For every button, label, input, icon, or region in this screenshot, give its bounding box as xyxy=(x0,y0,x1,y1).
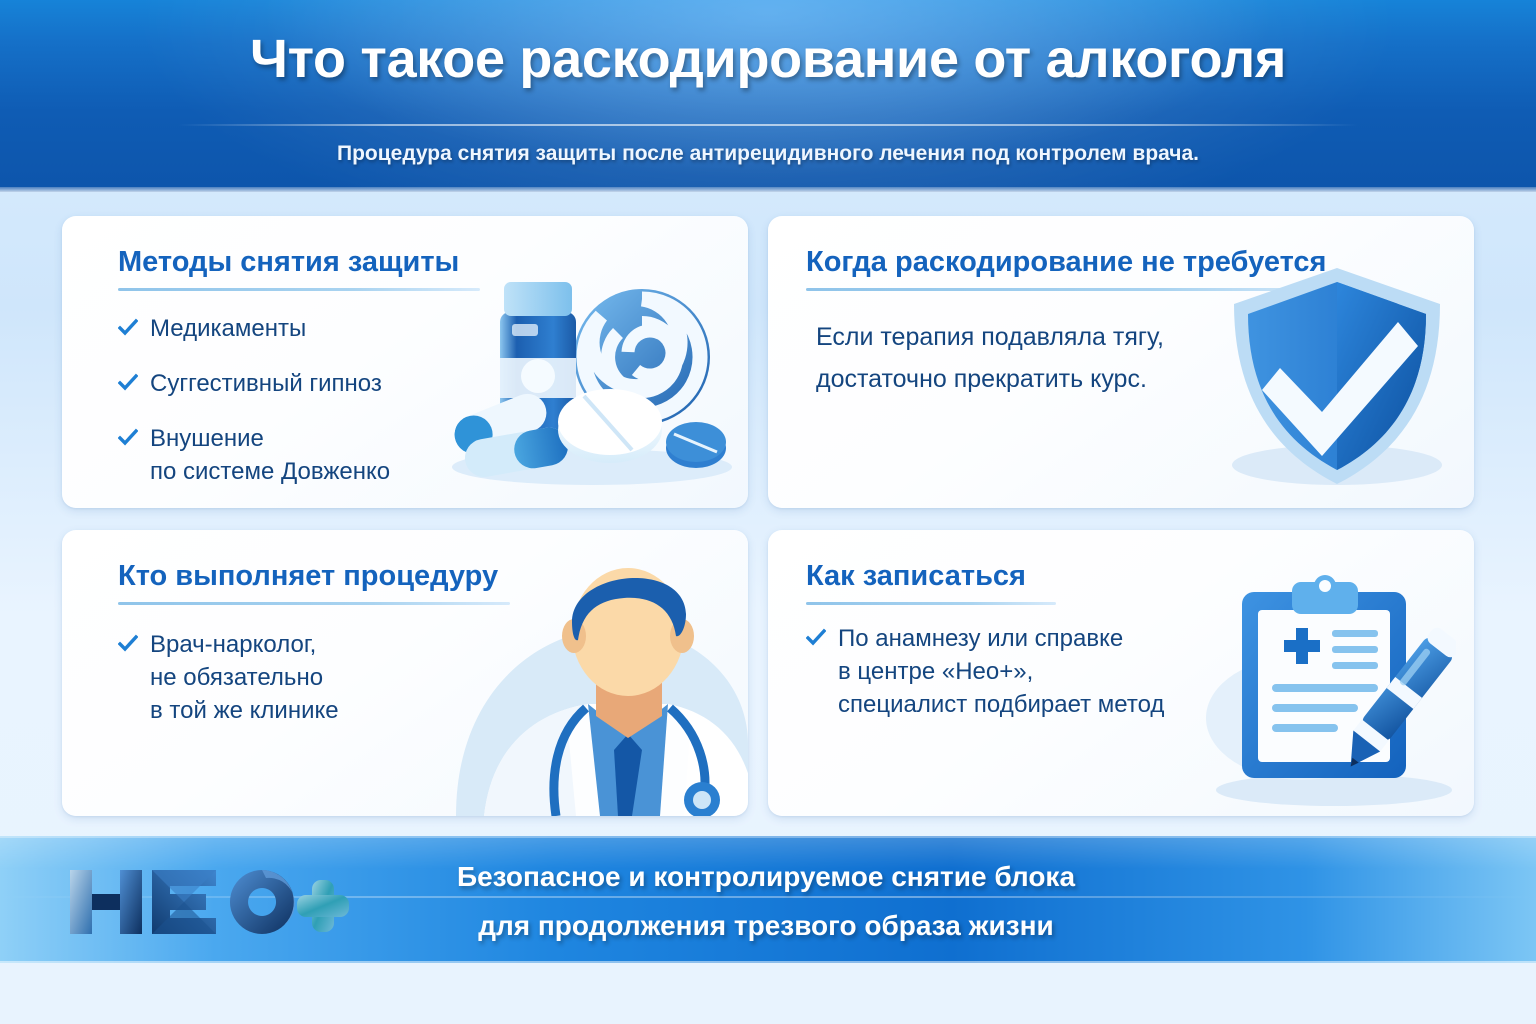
check-icon xyxy=(118,428,138,448)
list-item-label: Врач-нарколог, не обязательно в той же к… xyxy=(150,628,339,727)
page-title: Что такое раскодирование от алкоголя xyxy=(0,28,1536,90)
footer-tagline: Безопасное и контролируемое снятие блока… xyxy=(356,852,1176,950)
heading-rule xyxy=(118,288,480,291)
list-item: Медикаменты xyxy=(118,312,390,345)
card-methods: Методы снятия защиты Медикаменты Суггест… xyxy=(62,216,748,508)
clipboard-pen-illustration xyxy=(1206,568,1456,808)
card-who-performs: Кто выполняет процедуру Врач-нарколог, н… xyxy=(62,530,748,816)
list-item-label: Медикаменты xyxy=(150,312,306,345)
header-divider xyxy=(178,124,1358,126)
infographic-poster: Что такое раскодирование от алкоголя Про… xyxy=(0,0,1536,1024)
doctor-illustration xyxy=(428,566,748,816)
bullet-list: По анамнезу или справке в центре «Нео+»,… xyxy=(806,622,1164,721)
card-grid: Методы снятия защиты Медикаменты Суггест… xyxy=(62,216,1474,816)
pills-spiral-illustration xyxy=(442,262,742,492)
header-band: Что такое раскодирование от алкоголя Про… xyxy=(0,0,1536,192)
list-item-label: По анамнезу или справке в центре «Нео+»,… xyxy=(838,622,1164,721)
list-item: Врач-нарколог, не обязательно в той же к… xyxy=(118,628,339,727)
list-item-label: Внушение по системе Довженко xyxy=(150,422,390,488)
list-item: По анамнезу или справке в центре «Нео+»,… xyxy=(806,622,1164,721)
card-heading: Методы снятия защиты xyxy=(118,246,459,279)
card-how-to-book: Как записаться По анамнезу или справке в… xyxy=(768,530,1474,816)
shield-check-illustration xyxy=(1222,260,1452,495)
list-item-label: Суггестивный гипноз xyxy=(150,367,382,400)
card-when-not-needed: Когда раскодирование не требуется Если т… xyxy=(768,216,1474,508)
check-icon xyxy=(118,373,138,393)
card-body-text: Если терапия подавляла тягу, достаточно … xyxy=(816,316,1164,400)
bullet-list: Медикаменты Суггестивный гипноз Внушение… xyxy=(118,312,390,488)
heading-rule xyxy=(806,602,1056,605)
check-icon xyxy=(806,628,826,648)
brand-logo xyxy=(66,862,356,942)
list-item: Суггестивный гипноз xyxy=(118,367,390,400)
check-icon xyxy=(118,318,138,338)
bullet-list: Врач-нарколог, не обязательно в той же к… xyxy=(118,628,339,727)
list-item: Внушение по системе Довженко xyxy=(118,422,390,488)
card-heading: Как записаться xyxy=(806,560,1026,593)
check-icon xyxy=(118,634,138,654)
page-subtitle: Процедура снятия защиты после антирециди… xyxy=(0,142,1536,166)
